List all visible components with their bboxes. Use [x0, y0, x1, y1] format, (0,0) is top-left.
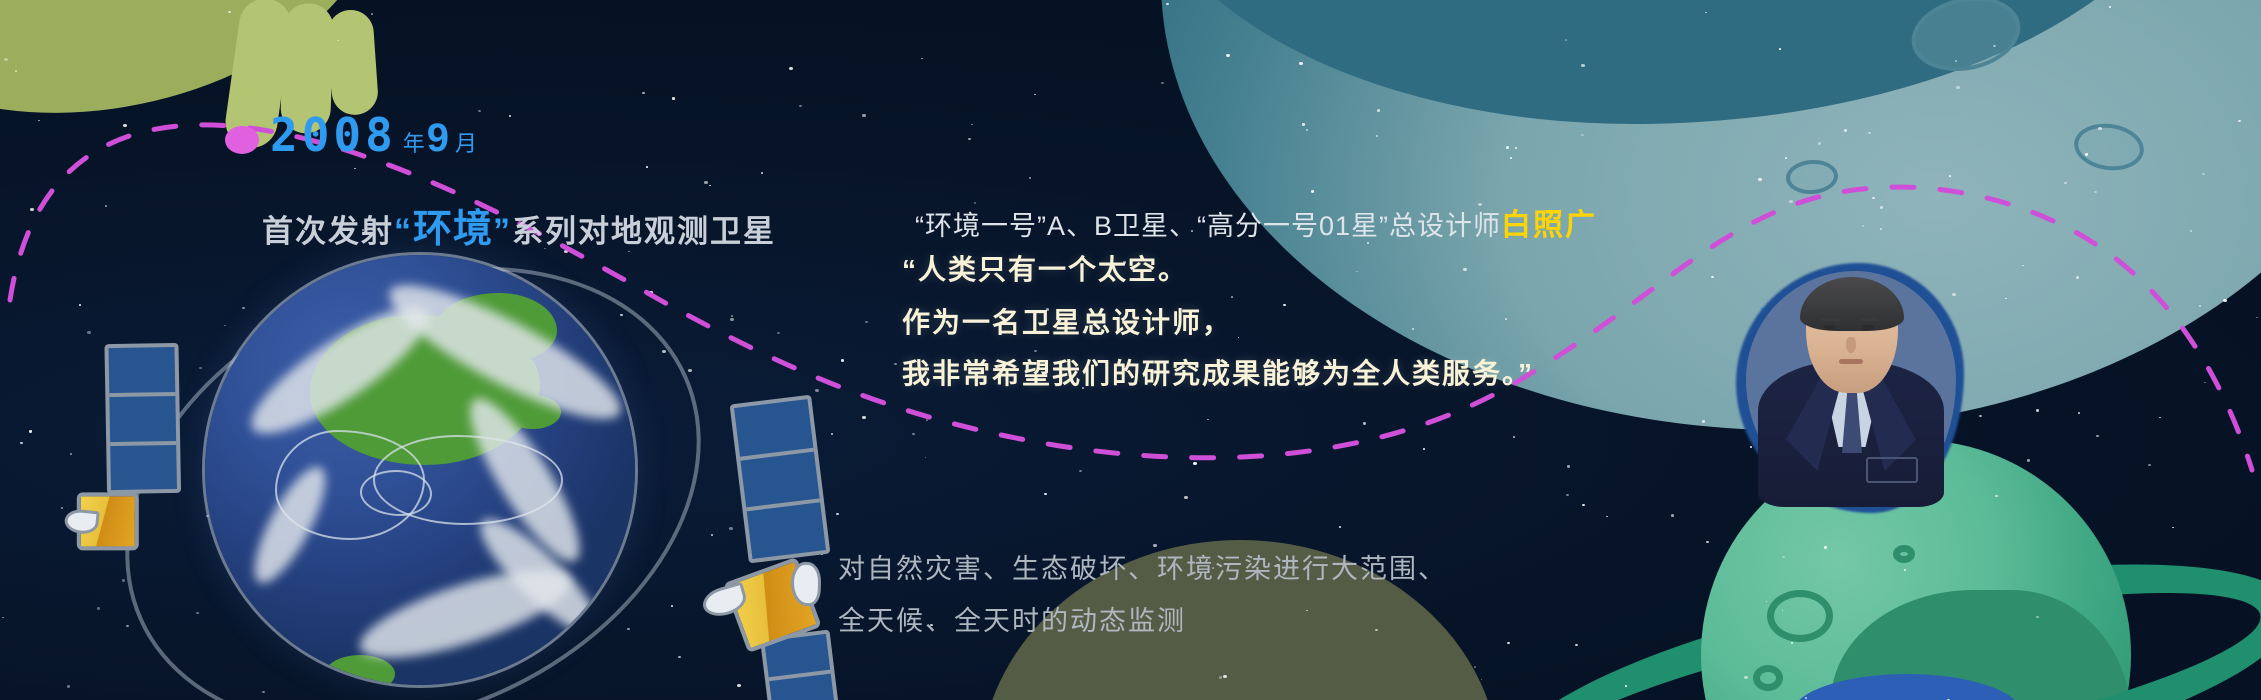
star	[1302, 123, 1305, 126]
star	[1506, 146, 1509, 149]
star	[1758, 178, 1762, 181]
star	[704, 181, 708, 184]
headline-suffix: 系列对地观测卫星	[512, 214, 776, 249]
star	[1993, 45, 1996, 47]
star	[509, 115, 511, 117]
star	[1299, 62, 1303, 65]
star	[1226, 54, 1230, 57]
star	[1581, 64, 1585, 67]
quote-line-text: 作为一名卫星总设计师，	[902, 307, 1232, 338]
star	[649, 291, 653, 294]
star	[688, 369, 692, 372]
quote-line: 作为一名卫星总设计师，	[902, 301, 1232, 341]
star	[894, 363, 897, 365]
star	[1955, 60, 1957, 62]
description-line: 对自然灾害、生态破坏、环境污染进行大范围、	[838, 547, 1447, 586]
headline-highlight: 环境	[413, 208, 493, 251]
star	[1880, 228, 1882, 230]
timeline-date: 2008年9月	[270, 108, 479, 162]
quote-line-text: 我非常希望我们的研究成果能够为全人类服务。”	[902, 358, 1534, 389]
star	[1844, 129, 1847, 132]
star	[2027, 459, 2030, 462]
star	[1219, 676, 1222, 679]
star	[1184, 496, 1188, 499]
star	[1782, 556, 1785, 558]
star	[1283, 304, 1286, 306]
crater	[2071, 119, 2147, 174]
star	[1193, 462, 1197, 465]
star	[1376, 135, 1378, 137]
star	[2256, 317, 2258, 318]
star	[126, 625, 129, 627]
star	[2078, 412, 2080, 414]
star	[2085, 153, 2088, 156]
star	[1231, 296, 1233, 298]
star	[1463, 268, 1467, 271]
star	[1306, 129, 1308, 131]
star	[2199, 305, 2201, 307]
star	[1339, 526, 1341, 528]
star	[730, 318, 734, 321]
star	[1956, 86, 1960, 89]
star	[968, 138, 971, 140]
star	[1566, 494, 1569, 496]
portrait-eye	[1824, 325, 1836, 330]
star	[672, 97, 675, 100]
star	[122, 579, 125, 582]
star	[371, 13, 373, 15]
star	[1575, 644, 1578, 646]
timeline-year-unit: 年	[403, 131, 425, 156]
star	[671, 605, 673, 607]
star	[789, 67, 793, 70]
portrait-nose	[1846, 337, 1856, 353]
quote-line-text: “人类只有一个太空。	[902, 254, 1188, 285]
star	[2098, 127, 2102, 130]
chief-designer-portrait	[1750, 275, 1950, 500]
star	[1785, 157, 1787, 159]
credit-text: “环境一号”A、B卫星、“高分一号01星”总设计师	[915, 211, 1501, 241]
portrait-eye	[1862, 325, 1874, 330]
star	[2096, 435, 2099, 437]
star	[1824, 546, 1827, 549]
timeline-month: 9	[427, 116, 449, 160]
star	[1702, 420, 1705, 423]
star	[1029, 177, 1031, 179]
star	[926, 419, 928, 421]
star	[2204, 382, 2206, 383]
headline-prefix: 首次发射	[262, 214, 394, 249]
banner-canvas: 2008年9月 首次发射“环境”系列对地观测卫星 “环境一号”A、B卫星、“高分…	[0, 0, 2261, 700]
star	[1744, 676, 1748, 679]
star	[1311, 190, 1314, 193]
star	[1505, 318, 1507, 320]
star	[731, 315, 733, 317]
star	[1412, 328, 1414, 330]
designer-name: 白照广	[1501, 209, 1597, 242]
planet-olive-lobe	[326, 8, 379, 116]
star	[841, 359, 844, 362]
earth-illustration-group	[205, 255, 635, 700]
timeline-headline: 首次发射“环境”系列对地观测卫星	[262, 198, 776, 254]
portrait-mouth	[1839, 359, 1863, 364]
star	[97, 607, 100, 610]
star	[2036, 616, 2039, 618]
planet-teal-shadow	[1161, 0, 2211, 124]
star	[1791, 642, 1793, 644]
star	[2076, 276, 2079, 279]
star	[2223, 299, 2227, 302]
star	[1949, 175, 1951, 177]
star	[1474, 666, 1476, 668]
earth-landmass	[325, 655, 395, 685]
star	[1515, 147, 1517, 149]
star	[70, 453, 72, 455]
star	[1068, 446, 1070, 447]
planet-green-swirl	[1893, 545, 1915, 563]
star	[87, 331, 91, 334]
star	[1567, 465, 1570, 468]
star	[2202, 173, 2205, 175]
star	[1789, 200, 1793, 203]
star	[1363, 422, 1366, 425]
star	[1423, 448, 1425, 450]
star	[862, 114, 866, 117]
earth-globe	[205, 255, 635, 685]
star	[105, 205, 107, 207]
star	[1306, 610, 1308, 611]
star	[1805, 697, 1807, 699]
star	[1868, 132, 1871, 134]
star	[1034, 94, 1036, 95]
star	[4, 58, 8, 61]
star	[1779, 48, 1781, 50]
star	[642, 92, 645, 94]
timeline-bullet-dot	[225, 126, 259, 154]
description-line: 全天候、全天时的动态监测	[838, 599, 1186, 638]
portrait-eyebrow	[1821, 318, 1839, 321]
star	[1880, 206, 1883, 209]
star	[123, 124, 127, 127]
star	[2064, 182, 2067, 184]
quote-line: “人类只有一个太空。	[902, 248, 1188, 288]
star	[15, 70, 17, 72]
star	[1952, 293, 1956, 296]
designer-credit: “环境一号”A、B卫星、“高分一号01星”总设计师白照广	[915, 200, 1597, 244]
star	[29, 430, 32, 433]
star	[799, 105, 802, 107]
star	[2148, 464, 2151, 466]
star	[1625, 685, 1627, 687]
star	[1904, 569, 1906, 571]
portrait-eyebrow	[1860, 318, 1878, 321]
timeline-month-unit: 月	[455, 131, 477, 156]
crater	[1785, 158, 1839, 196]
star	[354, 168, 356, 169]
star	[1711, 276, 1714, 278]
star	[862, 416, 866, 419]
solar-panel	[104, 343, 181, 494]
timeline-year: 2008	[270, 108, 397, 162]
star	[1223, 675, 1227, 678]
star	[777, 332, 780, 334]
quote-line: 我非常希望我们的研究成果能够为全人类服务。”	[902, 352, 1534, 392]
star	[1377, 109, 1380, 112]
star	[1818, 142, 1821, 145]
star	[1510, 157, 1512, 159]
star	[1507, 642, 1510, 644]
star	[1582, 504, 1585, 506]
headline-quote-close: ”	[493, 212, 512, 250]
portrait-pocket	[1866, 457, 1918, 483]
satellite-left	[69, 338, 241, 572]
star	[865, 321, 868, 323]
solar-panel	[730, 395, 831, 564]
star	[761, 172, 763, 174]
headline-quote-open: “	[394, 212, 413, 250]
star	[1995, 495, 1998, 497]
star	[2036, 409, 2039, 412]
star	[1671, 514, 1674, 517]
star	[30, 208, 34, 211]
